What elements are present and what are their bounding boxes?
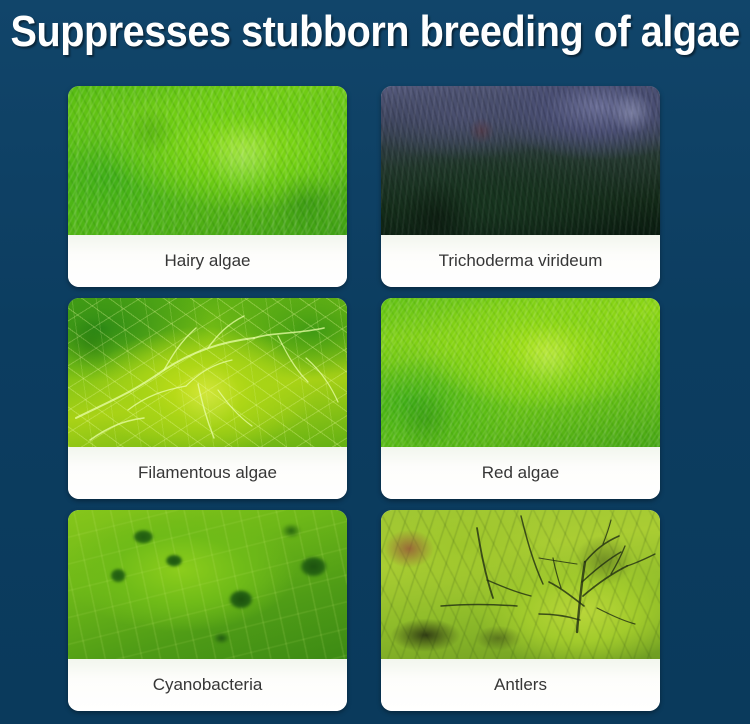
- photo-highlight-layer: [381, 298, 660, 447]
- card-caption-label: Filamentous algae: [138, 463, 277, 483]
- card-caption-label: Trichoderma virideum: [439, 251, 603, 271]
- filamentous-algae-photo: [68, 298, 347, 447]
- card-caption-bar: Antlers: [381, 659, 660, 711]
- card-caption-label: Red algae: [482, 463, 560, 483]
- card-caption-label: Antlers: [494, 675, 547, 695]
- card-caption-label: Cyanobacteria: [153, 675, 263, 695]
- card-caption-bar: Filamentous algae: [68, 447, 347, 499]
- algae-card[interactable]: Trichoderma virideum: [381, 86, 660, 287]
- antler-branches-overlay: [381, 510, 660, 659]
- filament-strands-overlay: [68, 298, 347, 447]
- photo-colony-layer: [68, 510, 347, 659]
- algae-card[interactable]: Filamentous algae: [68, 298, 347, 499]
- card-caption-label: Hairy algae: [165, 251, 251, 271]
- card-caption-bar: Hairy algae: [68, 235, 347, 287]
- photo-highlight-layer: [381, 86, 660, 235]
- card-caption-bar: Trichoderma virideum: [381, 235, 660, 287]
- headline-banner: Suppresses stubborn breeding of algae: [0, 4, 750, 60]
- trichoderma-virideum-photo: [381, 86, 660, 235]
- cyanobacteria-photo: [68, 510, 347, 659]
- algae-card[interactable]: Cyanobacteria: [68, 510, 347, 711]
- red-algae-photo: [381, 298, 660, 447]
- algae-poster: Suppresses stubborn breeding of algae Ha…: [0, 0, 750, 724]
- algae-card[interactable]: Red algae: [381, 298, 660, 499]
- card-caption-bar: Cyanobacteria: [68, 659, 347, 711]
- antlers-photo: [381, 510, 660, 659]
- photo-highlight-layer: [68, 86, 347, 235]
- card-caption-bar: Red algae: [381, 447, 660, 499]
- algae-card[interactable]: Antlers: [381, 510, 660, 711]
- algae-card-grid: Hairy algae Trichoderma virideum: [68, 86, 660, 716]
- page-title: Suppresses stubborn breeding of algae: [10, 8, 739, 56]
- algae-card[interactable]: Hairy algae: [68, 86, 347, 287]
- hairy-algae-photo: [68, 86, 347, 235]
